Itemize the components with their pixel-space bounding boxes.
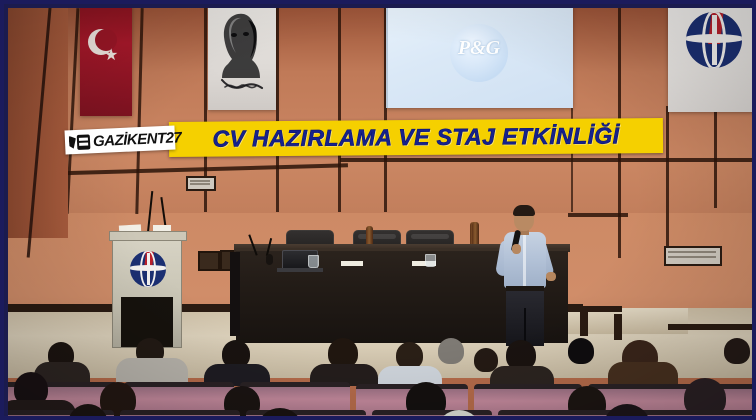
wall-vent	[664, 246, 722, 266]
university-flag-banner	[668, 8, 756, 112]
audience	[8, 338, 756, 420]
stage-riser	[614, 314, 622, 340]
stage-riser	[580, 308, 588, 336]
wall-seam	[338, 8, 341, 212]
table-paper	[341, 261, 363, 266]
water-glass	[425, 254, 436, 267]
audience-head	[568, 338, 594, 364]
speaker-right-hand	[546, 272, 556, 281]
watermark-tag: GAZİKENT27	[65, 126, 176, 155]
audience-shoulders	[116, 358, 188, 382]
logo-stem	[147, 253, 150, 285]
headline-banner: CV HAZIRLAMA VE STAJ ETKİNLİĞİ	[169, 118, 663, 157]
water-glass	[308, 255, 319, 268]
vent-slat	[190, 183, 210, 185]
wall-seam	[666, 106, 669, 261]
vent-slat	[190, 180, 210, 182]
speaker-belt	[506, 286, 544, 291]
headline-text: CV HAZIRLAMA VE STAJ ETKİNLİĞİ	[212, 122, 619, 152]
masks-logo-icon	[69, 133, 92, 151]
ataturk-portrait-banner	[208, 8, 276, 110]
projection-screen: P&G	[386, 8, 573, 108]
seat-row	[498, 410, 618, 420]
left-wall	[8, 8, 68, 238]
audience-head	[724, 338, 750, 364]
vent-slat	[668, 251, 716, 253]
event-photo: ★ P&G	[0, 0, 756, 420]
star-icon: ★	[104, 48, 118, 64]
audience-head	[396, 342, 423, 369]
ataturk-portrait-icon	[208, 8, 276, 110]
audience-head	[438, 338, 464, 364]
table-microphone-head	[266, 254, 273, 265]
stage-riser	[568, 306, 622, 312]
wall-speaker-box	[198, 251, 220, 271]
seat-row	[120, 410, 240, 420]
wall-seam	[27, 8, 53, 258]
podium	[112, 236, 182, 348]
podium-shelf	[109, 231, 187, 241]
stage-riser	[668, 324, 756, 330]
watermark-text: GAZİKENT27	[93, 129, 182, 150]
wall-seam	[276, 8, 279, 212]
laptop-base	[277, 268, 323, 272]
photo-scene: ★ P&G	[8, 8, 756, 420]
wall-seam-horizontal	[568, 213, 628, 217]
speaker-left-hand	[512, 244, 521, 254]
wall-seam-horizontal	[340, 158, 756, 162]
university-globe-icon	[686, 12, 742, 68]
speaker-shirt-placket	[523, 234, 526, 286]
pg-logo-text: P&G	[450, 37, 508, 60]
head-table-side	[230, 252, 240, 336]
speaker-hair	[513, 205, 535, 216]
logo-stem	[712, 15, 717, 64]
turkish-flag: ★	[80, 8, 132, 116]
podium-university-logo-icon	[130, 251, 166, 287]
speaker-person	[490, 204, 560, 346]
vent-slat	[668, 256, 716, 258]
wall-vent	[186, 176, 216, 191]
